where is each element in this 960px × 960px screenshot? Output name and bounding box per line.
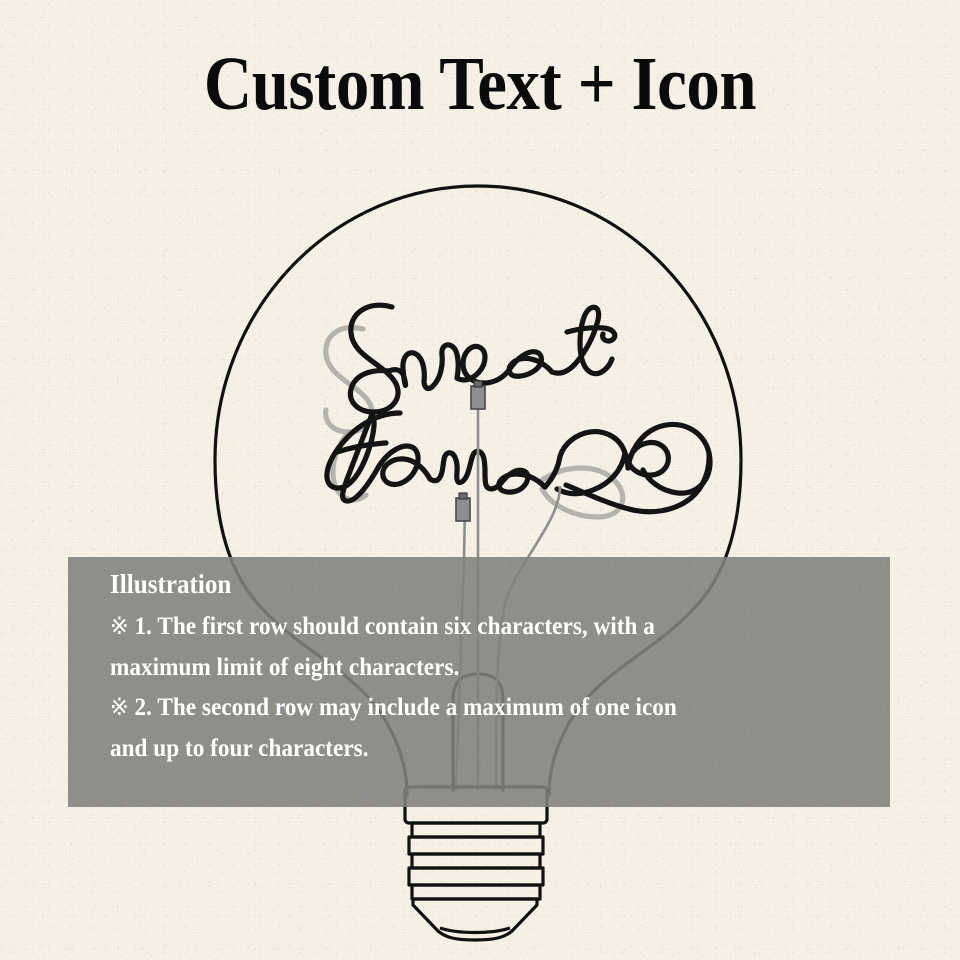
note-line-1: ※ 1. The first row should contain six ch… [110, 607, 826, 648]
note-line-3-text: 2. The second row may include a maximum … [135, 694, 677, 721]
note-line-4: and up to four characters. [110, 729, 826, 770]
note-line-3: ※ 2. The second row may include a maximu… [110, 688, 826, 729]
page-title: Custom Text + Icon [58, 46, 903, 122]
lightbulb-illustration: .glass { fill: none; stroke: #111111; st… [0, 0, 960, 960]
note-line-4-text: and up to four characters. [110, 735, 369, 762]
illustration-note-panel: Illustration ※ 1. The first row should c… [68, 557, 890, 807]
poster-canvas: Custom Text + Icon .glass { fill: none; … [0, 0, 960, 960]
reference-mark-icon-2: ※ [110, 693, 129, 721]
note-line-2: maximum limit of eight characters. [110, 648, 826, 689]
bulb-screw-base [405, 787, 547, 940]
note-heading: Illustration [110, 571, 826, 598]
script-text-home [327, 413, 545, 501]
wire-connector-lower [456, 493, 470, 521]
note-line-1-text: 1. The first row should contain six char… [135, 613, 655, 640]
note-line-2-text: maximum limit of eight characters. [110, 654, 459, 681]
wire-connector-upper [471, 381, 485, 409]
reference-mark-icon: ※ [110, 612, 129, 640]
